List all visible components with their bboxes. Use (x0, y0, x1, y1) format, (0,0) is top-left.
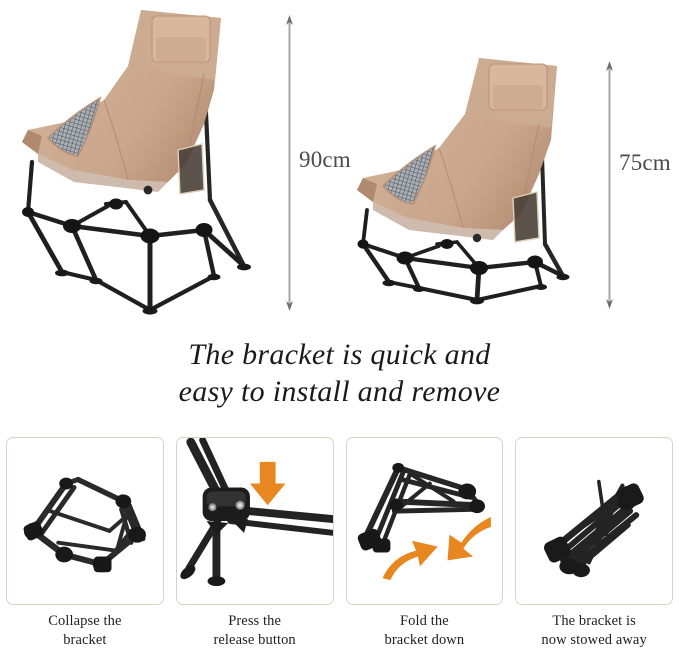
headline: The bracket is quick and easy to install… (0, 336, 679, 410)
chair-image-low (345, 48, 595, 310)
step-4-caption-line-1: The bracket is (509, 612, 679, 631)
step-4: The bracket is now stowed away (509, 437, 679, 664)
chair-image-tall (8, 4, 270, 318)
step-1-caption: Collapse the bracket (0, 612, 170, 650)
step-2-caption-line-1: Press the (170, 612, 340, 631)
step-3-image-bracket-folding-down (346, 437, 504, 605)
dimension-label-75cm: 75cm (619, 150, 671, 176)
dimension-label-90cm: 90cm (299, 147, 351, 173)
step-1-caption-line-2: bracket (0, 631, 170, 650)
step-2-image-bracket-hub-release-button (176, 437, 334, 605)
instruction-steps: Collapse the bracket (0, 437, 679, 664)
step-1: Collapse the bracket (0, 437, 170, 664)
step-1-image-collapsed-bracket-frame (6, 437, 164, 605)
step-4-caption: The bracket is now stowed away (509, 612, 679, 650)
step-3-caption-line-1: Fold the (340, 612, 510, 631)
dimension-line-90cm (284, 14, 295, 312)
step-4-caption-line-2: now stowed away (509, 631, 679, 650)
product-hero-section: 90cm 75cm (0, 0, 679, 330)
step-4-image-bracket-stowed-bundle (515, 437, 673, 605)
dimension-line-75cm (604, 60, 615, 310)
step-2-caption-line-2: release button (170, 631, 340, 650)
step-3: Fold the bracket down (340, 437, 510, 664)
step-3-caption-line-2: bracket down (340, 631, 510, 650)
step-2-caption: Press the release button (170, 612, 340, 650)
step-2: Press the release button (170, 437, 340, 664)
step-1-caption-line-1: Collapse the (0, 612, 170, 631)
headline-line-1: The bracket is quick and (0, 336, 679, 373)
step-3-caption: Fold the bracket down (340, 612, 510, 650)
headline-line-2: easy to install and remove (0, 373, 679, 410)
